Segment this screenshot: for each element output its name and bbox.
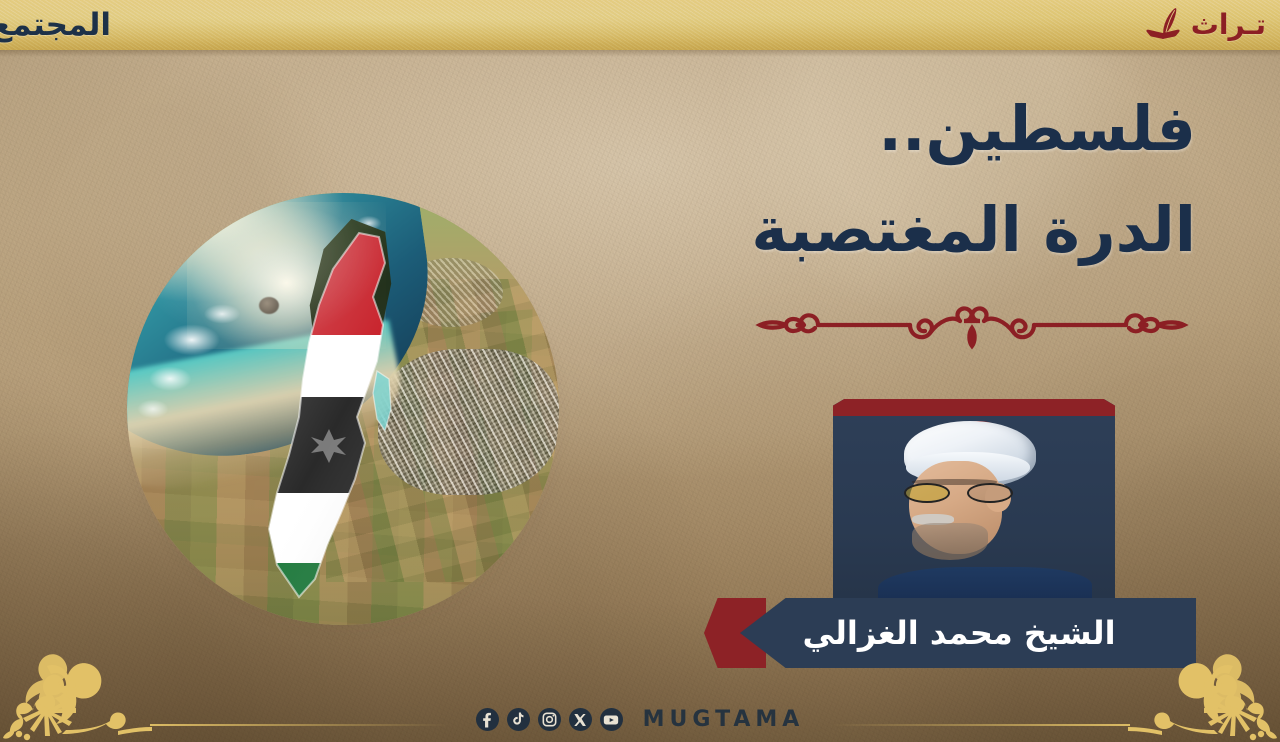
portrait-glasses-icon [904, 483, 1014, 503]
header-band [0, 0, 1280, 50]
instagram-icon[interactable] [538, 708, 561, 731]
title-line-2: الدرة المغتصبة [636, 193, 1196, 266]
footer-social-bar: MUGTAMA [0, 707, 1280, 732]
poster-canvas: المجتمع تـراث [0, 0, 1280, 742]
sheikh-muhammad-al-ghazali-portrait [833, 399, 1115, 620]
brand-wordmark: MUGTAMA [643, 707, 805, 732]
ornamental-flourish-divider [752, 300, 1192, 350]
book-quill-icon [1143, 5, 1183, 45]
section-label: تـراث [1191, 11, 1266, 39]
al-mujtama-logo[interactable]: المجتمع [8, 2, 94, 48]
section-brand-turath[interactable]: تـراث [1143, 4, 1266, 46]
globe-sphere-gloss [127, 193, 559, 625]
youtube-icon[interactable] [600, 708, 623, 731]
facebook-icon[interactable] [476, 708, 499, 731]
portrait-top-accent [833, 399, 1115, 416]
globe-sphere [127, 193, 559, 625]
page-title: فلسطين.. الدرة المغتصبة [636, 92, 1196, 266]
title-line-1: فلسطين.. [636, 92, 1196, 165]
tiktok-icon[interactable] [507, 708, 530, 731]
x-twitter-icon[interactable] [569, 708, 592, 731]
palestine-globe-composite [127, 193, 559, 625]
speaker-name: الشيخ محمد الغزالي [802, 614, 1133, 652]
header-band-shadow [0, 50, 1280, 57]
